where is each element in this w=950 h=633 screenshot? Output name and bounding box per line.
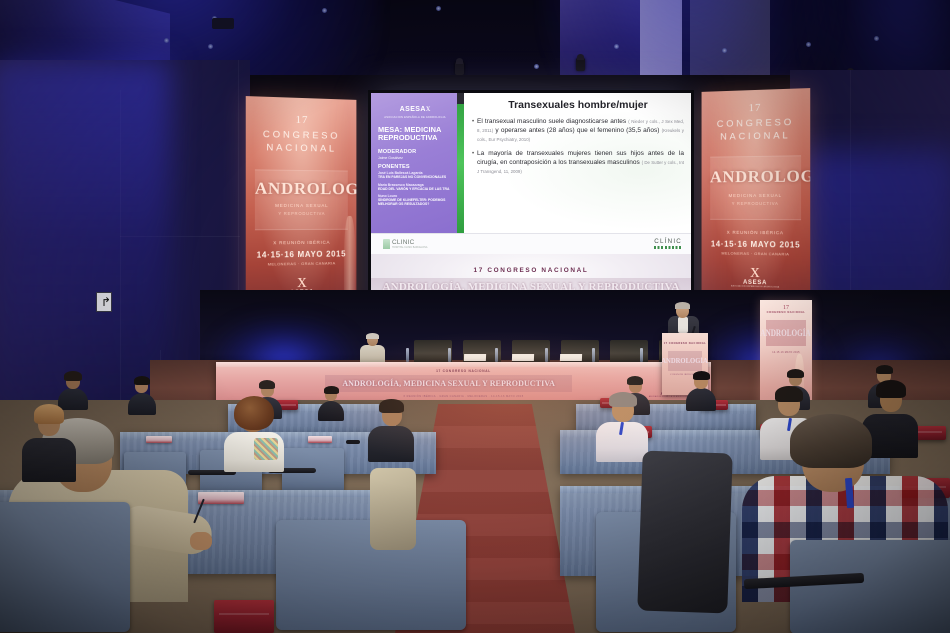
banner-title: ANDROLOGÍA [710,166,801,187]
phone [346,440,360,444]
slide-title: Transexuales hombre/mujer [472,99,684,111]
backpack [370,468,416,550]
speaker-entry: Nuno Louro SÍNDROME DE KLINEFELTER: PODE… [378,194,452,206]
clinic-logo-left: CLINIC HOSPITAL CLINIC BARCELONA [383,239,427,249]
moderator-name: Jaime Gosálvez [378,156,452,160]
asesa-tagline: ASOCIACION ESPAÑOLA DE ANDROLOGIA [378,116,452,119]
water-bottle [495,348,498,362]
banner-title: ANDROLOGÍA [255,179,348,200]
ceiling-spotlight [455,62,464,75]
audience-chair [0,502,130,632]
podium-title: ANDROLOGÍA [662,357,709,365]
banner-subtitle-2: Y REPRODUCTIVA [710,201,801,206]
water-bottle [406,348,409,362]
asesa-logo: ASESAx ASOCIACION ESPAÑOLA DE ANDROLOGIA [378,98,452,119]
attendee-person [22,404,76,476]
banner-dates: 14·15·16 MAYO 2015 [246,249,357,259]
clinic-left-sub: HOSPITAL CLINIC BARCELONA [392,246,427,249]
attendee-person [318,388,344,418]
banner-subtitle-1: MEDICINA SEXUAL [710,193,801,198]
bullet-text: El transexual masculino suele diagnostic… [477,118,628,125]
banner-number: 17 [702,100,811,115]
speaker-entry: María Brassesco Macazzaga EDAD DEL VARÓN… [378,183,452,191]
attendee-person [58,372,88,408]
blouse-embroidery [254,438,278,460]
notebook [198,492,244,504]
bullet-text-cont: y operarse antes (28 años) que el femeni… [493,127,661,134]
water-bottle [448,348,451,362]
clinic-building-icon [383,239,390,249]
banner-iberica: X REUNIÓN IBÉRICA [246,240,357,246]
banner-iberica: X REUNIÓN IBÉRICA [702,230,811,236]
speakers-label: PONENTES [378,164,452,170]
banner-subtitle-2: Y REPRODUCTIVA [255,211,348,216]
backpack [637,450,733,613]
banner-nacional: NACIONAL [702,130,811,143]
slide-accent-bar [457,93,464,233]
notebook [308,436,332,443]
speaker-hair [675,302,690,309]
conference-hall-photo: ↱ 17 CONGRESO NACIONAL ANDROLOGÍA MEDICI… [0,0,950,633]
head-table-congress-line: 17 CONGRESO NACIONAL [216,369,711,373]
clinic-logo-right: CLÍNIC [654,238,682,249]
rollup-dates: 14·15·16 MAYO 2015 [760,351,812,354]
name-card [464,354,486,361]
speaker-entry: José Luis Ballescá Lagarda TRA EN PAREJA… [378,171,452,179]
water-bottle [545,348,548,362]
slide-bullet: • El transexual masculino suele diagnost… [472,118,684,144]
banner-subtitle-1: MEDICINA SEXUAL [255,203,348,208]
rollup-title: ANDROLOGÍA [761,328,811,338]
asesa-word: ASESA [400,106,426,113]
audience-chair [790,540,950,633]
slide-accent-cap [457,93,464,104]
head-table-title: ANDROLOGÍA, MEDICINA SEXUAL Y REPRODUCTI… [342,379,555,388]
ceiling-spotlight [576,58,585,71]
attendee-person [224,396,284,466]
attendee-person [596,392,648,458]
slide-session-title: MESA: MEDICINA REPRODUCTIVA [378,126,452,143]
podium-congress-line: 17 CONGRESO NACIONAL [662,342,708,345]
water-bottle [640,348,643,362]
attendee-person [368,398,414,460]
banner-place: MELONERAS · GRAN CANARIA [246,260,357,267]
stage-chair [414,340,452,364]
attendee-person [686,372,716,408]
band-congress-line: 17 CONGRESO NACIONAL [474,267,589,274]
wall-banner-right: 17 CONGRESO NACIONAL ANDROLOGÍA MEDICINA… [702,88,811,324]
clinic-left-word: CLINIC [392,239,427,246]
rollup-congress-line: CONGRESO NACIONAL [760,311,812,314]
hand [190,532,212,550]
speaker-talk: TRA EN PAREJAS NO CONVENCIONALES [378,175,452,179]
moderator-label: MODERADOR [378,149,452,155]
banner-congress: CONGRESO [702,117,811,131]
slide-content: Transexuales hombre/mujer • El transexua… [457,93,691,233]
slide-logo-footer: CLINIC HOSPITAL CLINIC BARCELONA CLÍNIC [371,233,691,253]
name-card [560,354,582,361]
projection-screen: ASESAx ASOCIACION ESPAÑOLA DE ANDROLOGIA… [368,90,694,322]
clinic-right-word: CLÍNIC [654,238,682,245]
banner-number: 17 [246,112,357,127]
name-card [512,354,534,361]
speaker-shirt [678,317,688,333]
clinic-right-bar-icon [654,246,682,249]
slide-sidebar: ASESAx ASOCIACION ESPAÑOLA DE ANDROLOGIA… [371,93,457,233]
banner-place: MELONERAS · GRAN CANARIA [702,250,811,257]
slide-bullet: • La mayoría de transexuales mujeres tie… [472,150,684,176]
banner-asesa-logo: x ASESA ASOCIACION ESPAÑOLA DE ANDROLOGI… [702,263,811,289]
attendee-person [128,378,156,412]
exit-arrow-icon: ↱ [101,295,107,309]
head-table-asesa-tagline: ASOCIACION ESPAÑOLA DE ANDROLOGIA [649,396,689,398]
wall-sign-icon: ↱ [96,292,112,312]
presentation-slide: ASESAx ASOCIACION ESPAÑOLA DE ANDROLOGIA… [371,93,691,319]
speaker-talk: EDAD DEL VARÓN Y EFICACIA DE LAS TRA [378,187,452,191]
banner-nacional: NACIONAL [246,142,357,155]
banner-congress: CONGRESO [246,129,357,143]
water-bottle [592,348,595,362]
banner-dates: 14·15·16 MAYO 2015 [702,239,811,249]
conference-bag [214,600,274,633]
speaker-talk: SÍNDROME DE KLINEFELTER: PODEMOS MELHORA… [378,198,452,206]
